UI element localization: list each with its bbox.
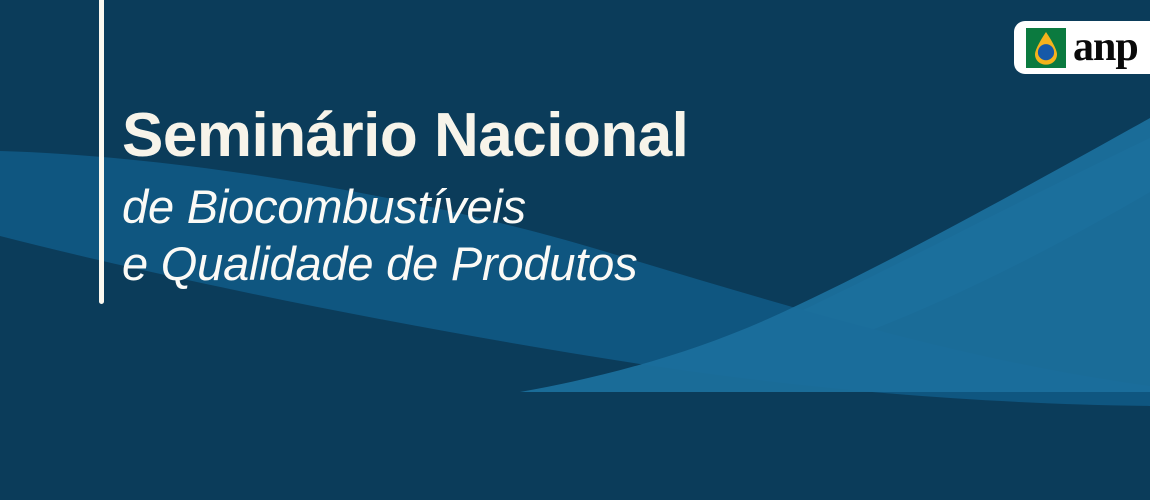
title-divider-rule	[99, 0, 104, 304]
anp-logo-card[interactable]: anp	[1014, 21, 1150, 74]
event-banner: Seminário Nacional de Biocombustíveis e …	[0, 0, 1150, 500]
banner-text-block: Seminário Nacional de Biocombustíveis e …	[122, 104, 882, 292]
subtitle-line-2: e Qualidade de Produtos	[122, 236, 882, 291]
subtitle-line-1: de Biocombustíveis	[122, 179, 882, 234]
anp-wordmark: anp	[1073, 26, 1138, 68]
anp-emblem-icon	[1026, 28, 1066, 68]
page-title: Seminário Nacional	[122, 104, 882, 168]
